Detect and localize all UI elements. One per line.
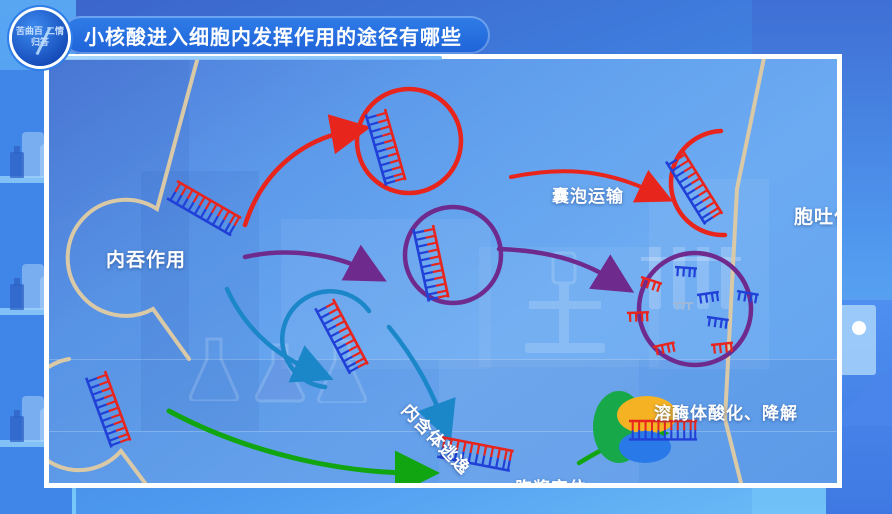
transport-vesicle bbox=[357, 89, 461, 193]
label-lysosome-degradation: 溶酶体酸化、降解 bbox=[654, 399, 798, 424]
free-sirna-lower bbox=[86, 371, 130, 447]
brand-logo: 苦曲百 二情归答 bbox=[12, 10, 68, 66]
shelf-bottle-neck bbox=[14, 146, 20, 154]
free-sirna-upper bbox=[167, 181, 241, 235]
lysosome-vesicle bbox=[627, 253, 759, 365]
page-title: 小核酸进入细胞内发挥作用的途径有哪些 bbox=[84, 21, 462, 50]
slide-canvas: 内吞作用 囊泡运输 胞吐作用 溶酶体酸化、降解 内含体逃逸 胞浆定位 RNAi … bbox=[0, 0, 892, 514]
diagram-frame: 内吞作用 囊泡运输 胞吐作用 溶酶体酸化、降解 内含体逃逸 胞浆定位 RNAi bbox=[44, 54, 842, 488]
shelf-bottle-neck bbox=[14, 278, 20, 286]
shelf-bottle bbox=[10, 416, 24, 442]
exocytosis-vesicle bbox=[666, 131, 725, 235]
vesicle-transport-arrows bbox=[245, 131, 655, 225]
shelf-bottle bbox=[10, 284, 24, 310]
endosome-vesicle bbox=[405, 207, 501, 303]
label-vesicle-transport: 囊泡运输 bbox=[552, 182, 624, 207]
label-endocytosis: 内吞作用 bbox=[106, 245, 186, 272]
door-knob-icon bbox=[852, 321, 866, 335]
title-underline bbox=[62, 56, 442, 60]
diagram-panel: 内吞作用 囊泡运输 胞吐作用 溶酶体酸化、降解 内含体逃逸 胞浆定位 RNAi bbox=[49, 59, 837, 483]
label-exocytosis: 胞吐作用 bbox=[794, 202, 837, 229]
shelf-bottle-neck bbox=[14, 410, 20, 418]
title-pill: 小核酸进入细胞内发挥作用的途径有哪些 bbox=[62, 16, 490, 54]
label-cytoplasmic-localization: 胞浆定位 bbox=[515, 474, 587, 483]
shelf-bottle bbox=[10, 152, 24, 178]
door-panel bbox=[836, 305, 876, 375]
escaping-endosome bbox=[282, 291, 369, 387]
